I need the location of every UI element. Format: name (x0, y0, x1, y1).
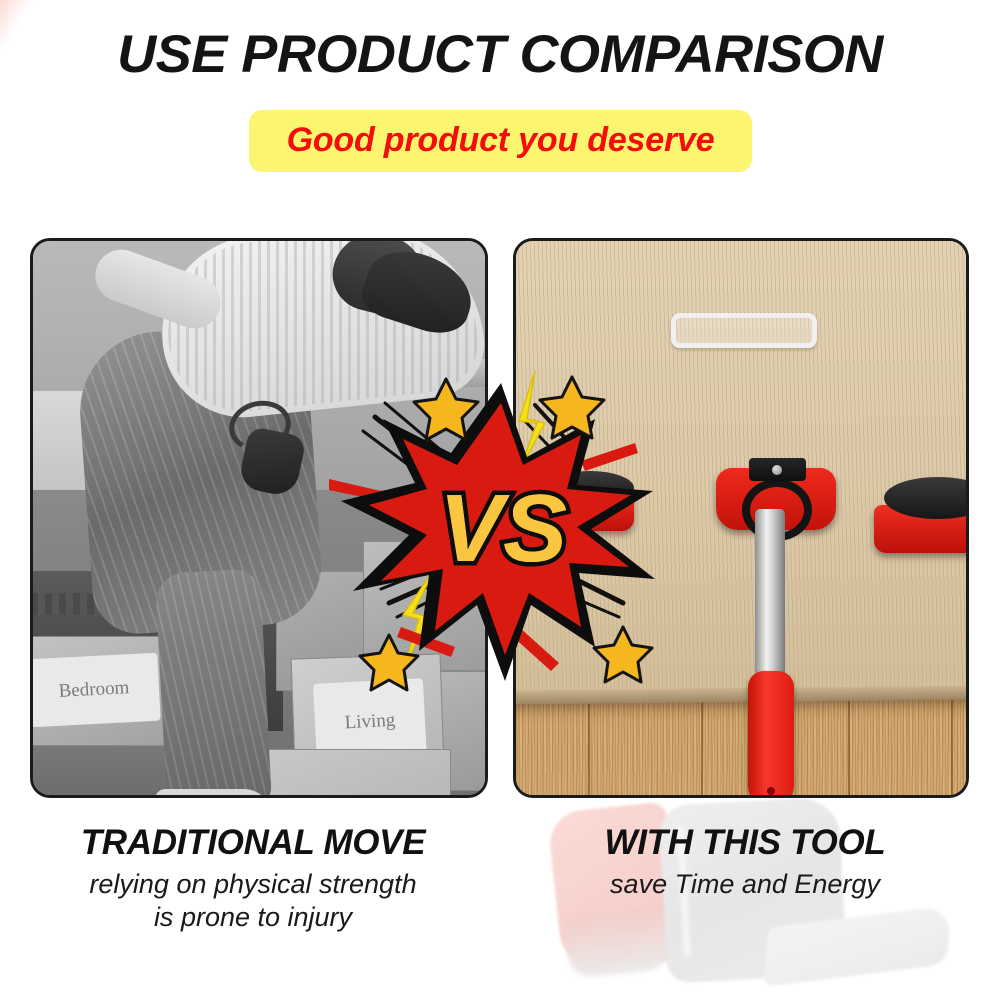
caption-left-line2: is prone to injury (18, 901, 488, 934)
caption-left-line1: relying on physical strength (18, 868, 488, 901)
comparison-panel-right (513, 238, 969, 798)
furniture-handle (671, 313, 817, 348)
caption-left-title: TRADITIONAL MOVE (18, 823, 488, 863)
photo-traditional-move: Bedroom Living B (33, 241, 485, 795)
subtitle-text: Good product you deserve (287, 121, 715, 160)
caption-traditional-move: TRADITIONAL MOVE relying on physical str… (18, 823, 488, 934)
watermark-tool-plate (763, 905, 952, 987)
person-leg (155, 568, 272, 798)
roller-dolly-pad (546, 471, 634, 505)
moving-box (261, 749, 451, 798)
caption-right-line1: save Time and Energy (520, 868, 970, 901)
caption-with-this-tool: WITH THIS TOOL save Time and Energy (520, 823, 970, 901)
furniture-lifter-shaft (755, 509, 785, 697)
furniture-lifter-grip (748, 671, 794, 798)
page-title: USE PRODUCT COMPARISON (0, 24, 1000, 85)
moving-box (363, 541, 488, 671)
caption-right-title: WITH THIS TOOL (520, 823, 970, 863)
photo-with-this-tool (516, 241, 966, 795)
subtitle-badge: Good product you deserve (249, 110, 752, 172)
box-label-bedroom: Bedroom (30, 653, 161, 728)
comparison-panel-left: Bedroom Living B (30, 238, 488, 798)
furniture-lifter-bracket (749, 458, 806, 481)
